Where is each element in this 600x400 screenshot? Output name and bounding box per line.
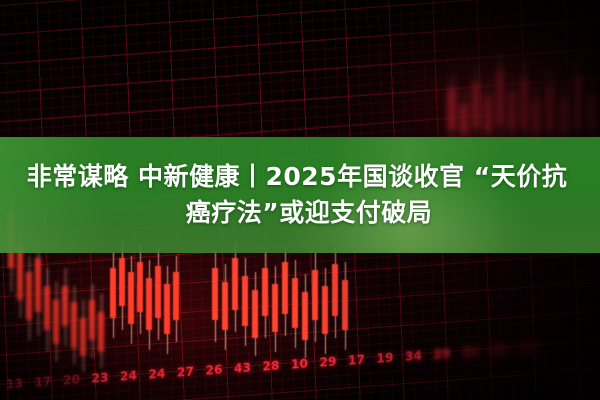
axis-tick-label: 32 [491,343,508,358]
axis-tick-label: 13 [6,376,23,391]
candlestick-body [26,272,32,320]
candlestick [232,242,238,332]
candlestick [242,258,248,346]
candlestick [173,256,179,342]
candlestick-body [484,96,492,132]
candlestick [137,244,143,334]
candlestick [448,74,456,142]
candlestick [496,54,504,138]
candlestick-body [312,270,318,320]
candlestick-body [322,286,328,334]
candlestick [460,88,468,140]
candlestick [164,266,170,354]
candlestick [44,268,50,352]
candlestick-body [62,286,68,326]
axis-tick-label: 19 [377,350,394,365]
headline-line-2: 癌疗法”或迎支付破局 [186,196,432,231]
candlestick [574,58,582,138]
axis-tick-label: 10 [291,356,308,371]
candlestick-body [232,258,238,310]
candlestick-body [137,262,143,312]
candlestick-body [532,100,540,132]
candlestick-body [155,266,161,318]
candlestick-body [560,98,568,132]
candlestick [282,246,288,336]
axis-tick-label: 24 [149,366,166,381]
axis-tick-label: 17 [348,352,365,367]
axis-tick-label: 43 [234,360,251,375]
candlestick-body [212,268,218,320]
axis-tick-label: 24 [120,368,137,383]
candlestick-body [71,302,77,348]
candlestick-body [173,272,179,320]
news-banner-image: 2821302740 13172023242427264328102917193… [0,0,600,400]
candlestick-body [292,278,298,328]
axis-tick-label: 27 [177,364,194,379]
candlestick-body [448,88,456,130]
axis-tick-label: 37 [519,341,536,356]
candlestick [62,268,68,346]
candlestick-body [53,300,59,344]
candlestick-body [472,82,480,128]
candlestick-body [496,70,504,126]
candlestick-body [164,284,170,334]
axis-tick-label: 31 [462,344,479,359]
candlestick [312,252,318,342]
axis-tick-label: 26 [206,362,223,377]
candlestick [520,60,528,138]
candlestick-body [272,284,278,332]
candlestick-body [242,276,248,326]
axis-tick-label: 20 [63,372,80,387]
candlestick-body [520,78,528,128]
headline-text-block: 非常谋略 中新健康丨2025年国谈收官 “天价抗 癌疗法”或迎支付破局 [0,137,600,253]
headline-line-1: 非常谋略 中新健康丨2025年国谈收官 “天价抗 [27,160,567,195]
candlestick-body [252,290,258,338]
candlestick [212,250,218,342]
candlestick-body [146,278,152,330]
candlestick-body [282,262,288,314]
candlestick [508,74,516,140]
candlestick [472,66,480,138]
candlestick [146,260,152,350]
axis-tick-label: 29 [434,346,451,361]
axis-tick-label: 29 [320,354,337,369]
candlestick [484,78,492,140]
candlestick [119,240,125,330]
candlestick-body [35,258,41,312]
candlestick-body [508,92,516,130]
candlestick-body [588,94,596,130]
candlestick-body [574,76,582,128]
candlestick-body [110,268,116,318]
candlestick [110,252,116,338]
axis-tick-label: 34 [405,348,422,363]
candlestick [26,256,32,340]
headline-banner: 非常谋略 中新健康丨2025年国谈收官 “天价抗 癌疗法”或迎支付破局 [0,137,600,253]
candlestick [332,248,338,338]
candlestick-body [222,282,228,330]
candlestick-body [119,258,125,306]
candlestick-body [546,86,554,130]
candlestick [588,76,596,140]
candlestick [532,84,540,140]
candlestick-body [460,104,468,134]
axis-tick-label: 23 [92,370,109,385]
candlestick [560,80,568,140]
candlestick [262,250,268,338]
candlestick-body [332,264,338,316]
candlestick [128,256,134,344]
candlestick-body [89,300,95,340]
candlestick [35,240,41,336]
candlestick-body [44,286,50,330]
candlestick [155,248,161,340]
candlestick [546,68,554,140]
candlestick-body [128,272,134,324]
candlestick-body [342,280,348,330]
candlestick-body [262,268,268,316]
axis-tick-label: 28 [263,358,280,373]
axis-tick-label: 17 [35,374,52,389]
